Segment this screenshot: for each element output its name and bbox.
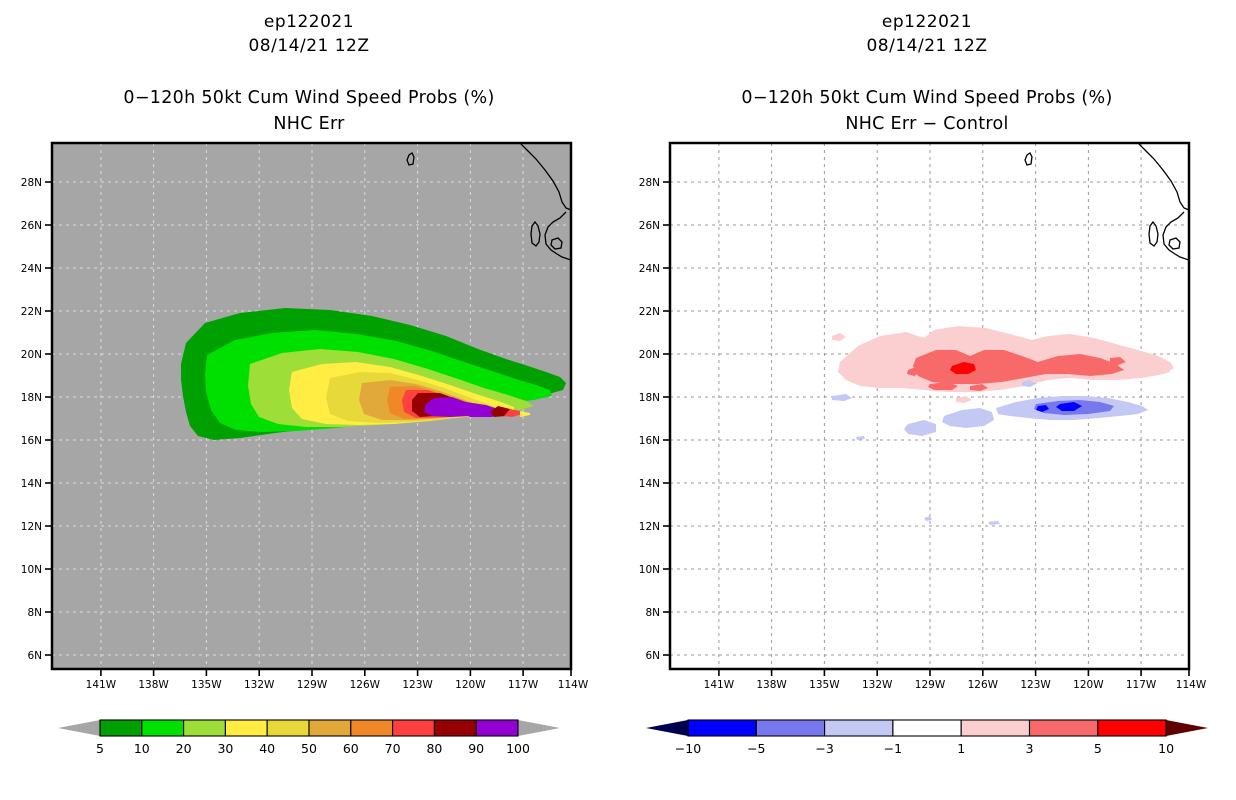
y-tick-label: 6N [645,650,660,662]
y-tick-label: 12N [21,521,42,533]
x-tick-label: 123W [402,679,433,691]
chart-subtitle-left: NHC Err [0,114,618,134]
colorbar-tick: 10 [1158,741,1174,756]
colorbar-tick: 3 [1026,741,1034,756]
x-tick-label: 138W [138,679,169,691]
x-tick-label: 129W [915,679,946,691]
colorbar-tick: 70 [385,741,401,756]
x-tick-label: 132W [862,679,893,691]
forecast-date-right: 08/14/21 12Z [618,36,1236,56]
storm-id-left: ep122021 [0,12,618,32]
colorbar-tick: 10 [134,741,150,756]
y-tick-label: 22N [21,306,42,318]
panel-nhc-err: ep122021 08/14/21 12Z 0−120h 50kt Cum Wi… [0,0,618,800]
x-axis-left: 141W 138W 135W 132W 129W 126W 123W 120W … [86,669,589,691]
y-tick-label: 22N [639,306,660,318]
y-tick-label: 12N [639,521,660,533]
colorbar-segments [688,720,1166,736]
colorbar-tick: −3 [815,741,833,756]
colorbar-tick: 80 [426,741,442,756]
y-tick-label: 14N [21,478,42,490]
y-tick-label: 8N [645,607,660,619]
x-tick-label: 126W [350,679,381,691]
colorbar-tick: 100 [506,741,530,756]
map-plot-right: 28N 26N 24N 22N 20N 18N 16N 14N 12N 10N … [618,140,1236,700]
y-tick-label: 10N [21,564,42,576]
colorbar-probability: 5 10 20 30 40 50 60 70 80 90 100 [0,705,618,765]
colorbar-tick: −1 [884,741,902,756]
x-tick-label: 114W [1176,679,1207,691]
y-tick-label: 16N [21,435,42,447]
x-tick-label: 135W [809,679,840,691]
y-axis-right: 28N 26N 24N 22N 20N 18N 16N 14N 12N 10N … [639,177,670,662]
x-tick-label: 132W [244,679,275,691]
y-tick-label: 20N [639,349,660,361]
colorbar-anomaly: −10 −5 −3 −1 1 3 5 10 [618,705,1236,765]
y-tick-label: 26N [639,220,660,232]
colorbar-tick: −5 [747,741,765,756]
y-tick-label: 16N [639,435,660,447]
y-tick-label: 6N [27,650,42,662]
colorbar-segments [100,720,518,736]
x-tick-label: 135W [191,679,222,691]
forecast-date-left: 08/14/21 12Z [0,36,618,56]
y-tick-label: 14N [639,478,660,490]
x-tick-label: 141W [86,679,117,691]
colorbar-over-arrow [1166,720,1208,736]
panel-nhc-err-minus-control: ep122021 08/14/21 12Z 0−120h 50kt Cum Wi… [618,0,1236,800]
colorbar-tick: 5 [96,741,104,756]
colorbar-tick: −10 [675,741,701,756]
colorbar-tick: 20 [176,741,192,756]
colorbar-tick: 90 [468,741,484,756]
y-tick-label: 8N [27,607,42,619]
colorbar-tick: 5 [1094,741,1102,756]
y-tick-label: 28N [21,177,42,189]
x-tick-label: 114W [558,679,589,691]
colorbar-under-arrow [58,720,100,765]
colorbar-tick: 60 [343,741,359,756]
y-axis-left: 28N 26N 24N 22N 20N 18N 16N 14N 12N 10N … [21,177,52,662]
x-tick-label: 117W [508,679,539,691]
x-tick-label: 138W [756,679,787,691]
colorbar-under-arrow [646,720,688,736]
y-tick-label: 18N [639,392,660,404]
chart-subtitle-right: NHC Err − Control [618,114,1236,134]
colorbar-tick: 30 [217,741,233,756]
colorbar-tick: 1 [957,741,965,756]
colorbar-over-arrow [518,720,560,736]
y-tick-label: 26N [21,220,42,232]
y-tick-label: 24N [639,263,660,275]
x-tick-label: 123W [1020,679,1051,691]
chart-title-right: 0−120h 50kt Cum Wind Speed Probs (%) [618,88,1236,108]
y-tick-label: 20N [21,349,42,361]
y-tick-label: 18N [21,392,42,404]
storm-id-right: ep122021 [618,12,1236,32]
x-tick-label: 120W [455,679,486,691]
colorbar-tick-labels: −10 −5 −3 −1 1 3 5 10 [675,741,1174,756]
x-tick-label: 129W [297,679,328,691]
chart-title-left: 0−120h 50kt Cum Wind Speed Probs (%) [0,88,618,108]
colorbar-tick: 40 [259,741,275,756]
x-tick-label: 120W [1073,679,1104,691]
y-tick-label: 28N [639,177,660,189]
colorbar-tick-labels: 5 10 20 30 40 50 60 70 80 90 100 [96,741,530,756]
colorbar-tick: 50 [301,741,317,756]
x-tick-label: 141W [704,679,735,691]
map-plot-left: 28N 26N 24N 22N 20N 18N 16N 14N 12N 10N … [0,140,618,700]
x-tick-label: 117W [1126,679,1157,691]
y-tick-label: 10N [639,564,660,576]
y-tick-label: 24N [21,263,42,275]
x-tick-label: 126W [968,679,999,691]
x-axis-right: 141W 138W 135W 132W 129W 126W 123W 120W … [704,669,1207,691]
